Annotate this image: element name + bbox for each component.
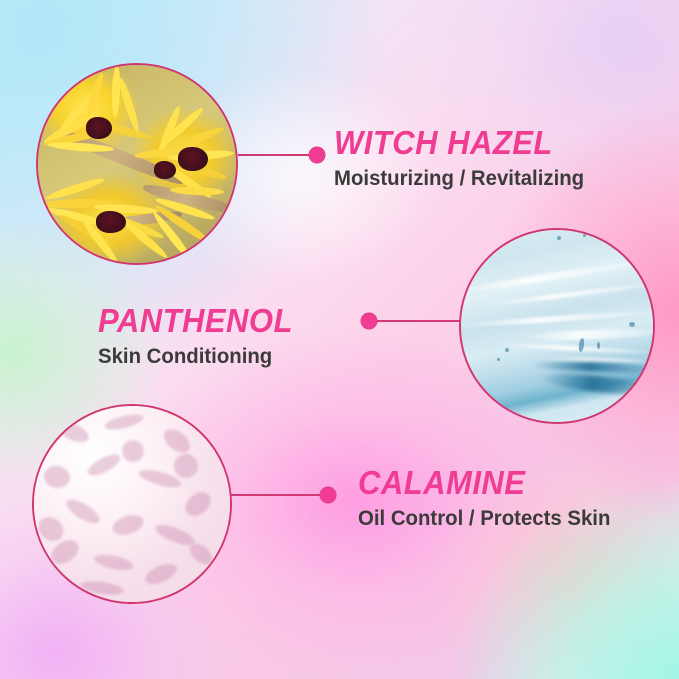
calamine-subtitle: Oil Control / Protects Skin <box>358 507 610 530</box>
witch-hazel-text-block: WITCH HAZEL Moisturizing / Revitalizing <box>334 126 592 190</box>
calamine-photo <box>32 404 232 604</box>
connector-line-panthenol <box>376 320 460 322</box>
witch-hazel-subtitle: Moisturizing / Revitalizing <box>334 167 584 190</box>
panthenol-photo <box>459 228 655 424</box>
calamine-title: CALAMINE <box>358 466 603 501</box>
calamine-photo-texture <box>34 406 230 602</box>
panthenol-photo-texture <box>461 230 653 422</box>
connector-line-calamine <box>228 494 324 496</box>
calamine-text-block: CALAMINE Oil Control / Protects Skin <box>358 466 618 530</box>
connector-dot-panthenol <box>361 313 377 329</box>
panthenol-text-block: PANTHENOL Skin Conditioning <box>98 304 305 368</box>
connector-line-witch-hazel <box>238 154 314 156</box>
panthenol-subtitle: Skin Conditioning <box>98 345 299 368</box>
witch-hazel-photo <box>36 63 238 265</box>
witch-hazel-title: WITCH HAZEL <box>334 126 576 161</box>
connector-dot-witch-hazel <box>309 147 325 163</box>
connector-dot-calamine <box>320 487 336 503</box>
ingredient-infographic: WITCH HAZEL Moisturizing / Revitalizing … <box>0 0 679 679</box>
witch-hazel-photo-texture <box>38 65 236 263</box>
panthenol-title: PANTHENOL <box>98 304 293 339</box>
